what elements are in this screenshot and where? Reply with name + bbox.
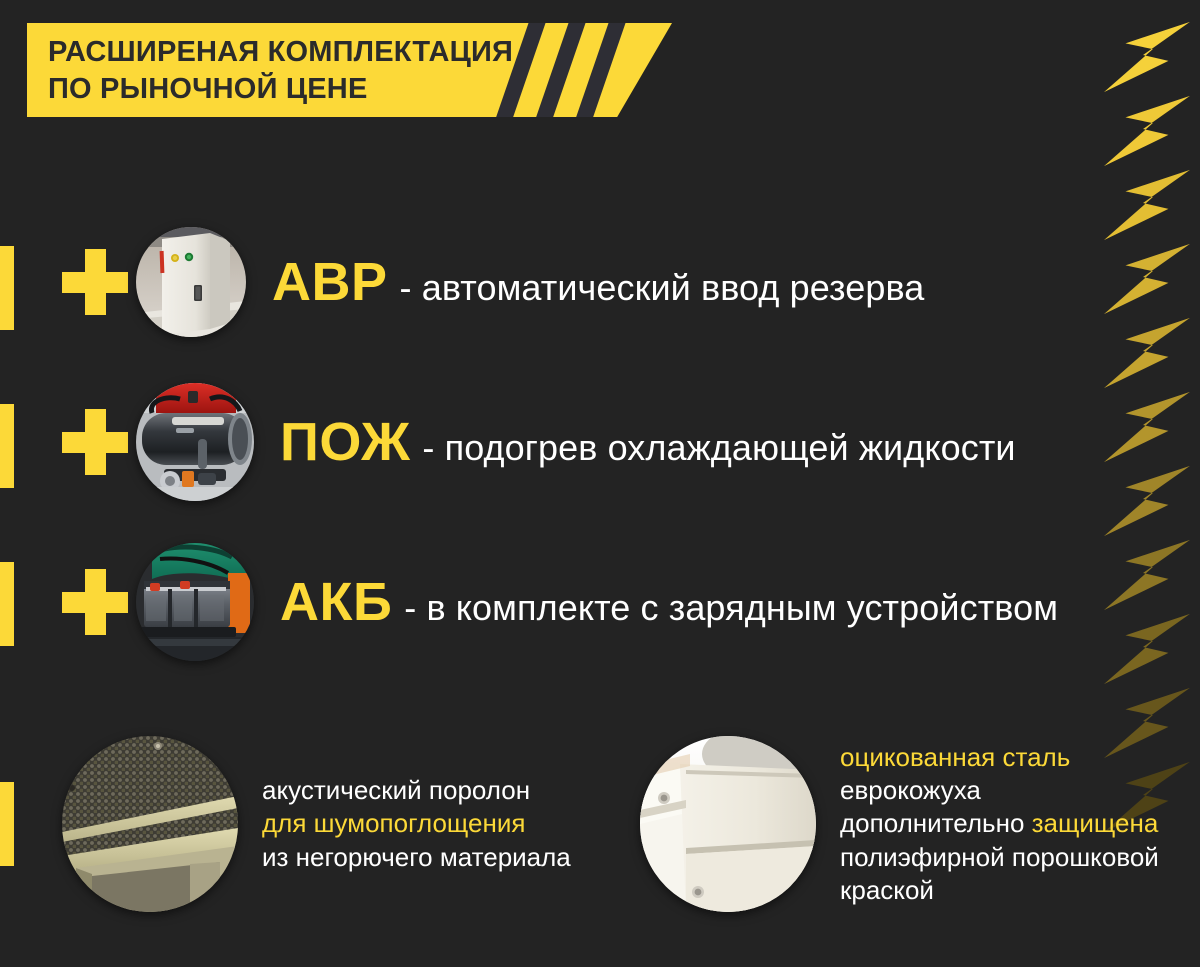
page-title: РАСШИРЕНАЯ КОМПЛЕКТАЦИЯ ПО РЫНОЧНОЙ ЦЕНЕ	[48, 34, 513, 109]
feature-desc: - автоматический ввод резерва	[400, 267, 925, 309]
bottom-block-galvanized-steel: оцикованная сталь еврокожуха дополнитель…	[640, 736, 1159, 912]
battery-bank-photo	[136, 543, 254, 661]
caption-line: акустический поролон	[262, 774, 571, 807]
caption-line: из негорючего материала	[262, 841, 571, 874]
caption-line-highlight: оцикованная сталь	[840, 741, 1159, 774]
edge-tab-3	[0, 562, 14, 646]
caption-line: полиэфирной порошковой	[840, 841, 1159, 874]
plus-icon	[62, 409, 128, 475]
galvanized-steel-caption: оцикованная сталь еврокожуха дополнитель…	[840, 741, 1159, 906]
plus-icon	[62, 569, 128, 635]
caption-line-highlight: для шумопоглощения	[262, 807, 571, 840]
feature-desc: - в комплекте с зарядным устройством	[404, 587, 1058, 629]
feature-text-pozh: ПОЖ - подогрев охлаждающей жидкости	[280, 411, 1016, 473]
caption-part: дополнительно	[840, 808, 1032, 838]
feature-abbr: ПОЖ	[280, 411, 410, 473]
feature-abbr: АВР	[272, 251, 388, 313]
coolant-preheater-photo	[136, 383, 254, 501]
edge-tab-1	[0, 246, 14, 330]
feature-row-akb: АКБ - в комплекте с зарядным устройством	[62, 542, 1058, 662]
feature-abbr: АКБ	[280, 571, 392, 633]
edge-tab-4	[0, 782, 14, 866]
header-banner: РАСШИРЕНАЯ КОМПЛЕКТАЦИЯ ПО РЫНОЧНОЙ ЦЕНЕ	[27, 23, 672, 117]
slide-root: РАСШИРЕНАЯ КОМПЛЕКТАЦИЯ ПО РЫНОЧНОЙ ЦЕНЕ	[0, 0, 1200, 967]
bottom-block-acoustic-foam: акустический поролон для шумопоглощения …	[62, 736, 571, 912]
feature-row-pozh: ПОЖ - подогрев охлаждающей жидкости	[62, 382, 1016, 502]
caption-line: еврокожуха	[840, 774, 1159, 807]
galvanized-enclosure-photo	[640, 736, 816, 912]
feature-desc: - подогрев охлаждающей жидкости	[422, 427, 1015, 469]
feature-row-avr: АВР - автоматический ввод резерва	[62, 222, 924, 342]
control-cabinet-photo	[136, 227, 246, 337]
caption-line: краской	[840, 874, 1159, 907]
caption-part-highlight: защищена	[1032, 808, 1159, 838]
acoustic-foam-photo	[62, 736, 238, 912]
plus-icon	[62, 249, 128, 315]
acoustic-foam-caption: акустический поролон для шумопоглощения …	[262, 774, 571, 873]
feature-text-avr: АВР - автоматический ввод резерва	[272, 251, 924, 313]
feature-text-akb: АКБ - в комплекте с зарядным устройством	[280, 571, 1058, 633]
caption-line-mixed: дополнительно защищена	[840, 807, 1159, 840]
edge-tab-2	[0, 404, 14, 488]
